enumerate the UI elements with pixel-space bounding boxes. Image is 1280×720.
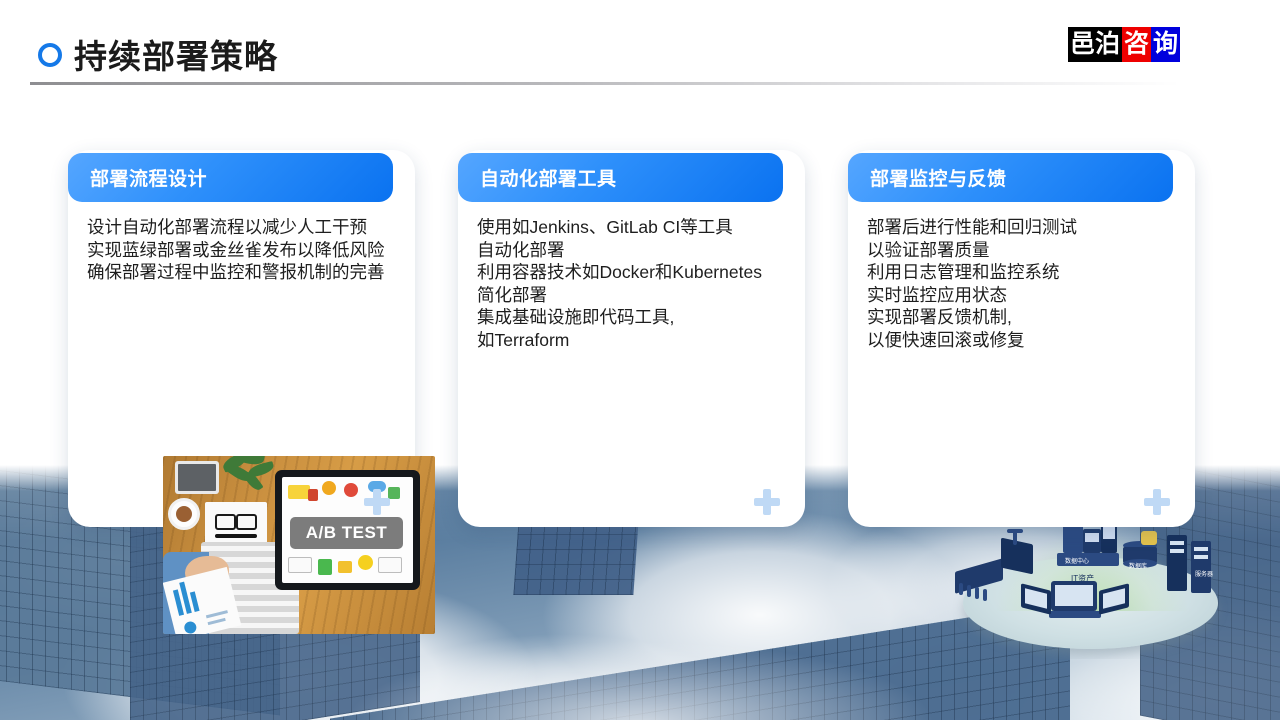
card-header: 部署流程设计	[68, 153, 393, 202]
plant-icon	[218, 456, 280, 494]
circle-ring-icon	[38, 43, 62, 67]
network-cable-4	[983, 589, 987, 601]
card-header: 部署监控与反馈	[848, 153, 1173, 202]
content-card-monitoring-feedback[interactable]: 部署监控与反馈 部署后进行性能和回归测试 以验证部署质量 利用日志管理和监控系统…	[848, 150, 1195, 527]
card-title: 部署流程设计	[90, 164, 207, 191]
card-body: 使用如Jenkins、GitLab CI等工具 自动化部署 利用容器技术如Doc…	[477, 216, 789, 351]
card-body-text: 设计自动化部署流程以减少人工干预 实现蓝绿部署或金丝雀发布以降低风险 确保部署过…	[87, 216, 399, 284]
page-title: 持续部署策略	[74, 30, 278, 78]
logo-text-dark: 邑泊	[1068, 27, 1122, 62]
plus-icon[interactable]	[754, 489, 780, 515]
server-led-4	[1194, 555, 1208, 559]
it-infrastructure-isometric-illustration: 数据中心 IT资产 数据库 服务器	[945, 513, 1235, 659]
logo-text-red: 咨	[1122, 27, 1151, 62]
antenna-pole	[1013, 531, 1017, 545]
card-body-text: 部署后进行性能和回归测试 以验证部署质量 利用日志管理和监控系统 实时监控应用状…	[867, 216, 1179, 351]
logo-text-blue: 询	[1151, 27, 1180, 62]
data-center-windows-2	[1103, 525, 1115, 539]
card-header: 自动化部署工具	[458, 153, 783, 202]
database-label: 数据库	[1129, 561, 1147, 570]
tablet-device: A/B TEST	[275, 470, 420, 590]
plus-icon[interactable]	[1144, 489, 1170, 515]
ab-test-label: A/B TEST	[290, 517, 403, 549]
content-card-automation-tools[interactable]: 自动化部署工具 使用如Jenkins、GitLab CI等工具 自动化部署 利用…	[458, 150, 805, 527]
server-label: 服务器	[1195, 569, 1213, 578]
lock-icon	[1141, 531, 1157, 545]
data-center-windows	[1085, 533, 1099, 542]
content-card-deployment-process[interactable]: 部署流程设计 设计自动化部署流程以减少人工干预 实现蓝绿部署或金丝雀发布以降低风…	[68, 150, 415, 527]
card-body: 部署后进行性能和回归测试 以验证部署质量 利用日志管理和监控系统 实时监控应用状…	[867, 216, 1179, 351]
card-title: 部署监控与反馈	[870, 164, 1007, 191]
pen-icon	[215, 534, 257, 538]
card-body: 设计自动化部署流程以减少人工干预 实现蓝绿部署或金丝雀发布以降低风险 确保部署过…	[87, 216, 399, 284]
network-cable-3	[975, 587, 979, 599]
desktop-keyboard	[1049, 611, 1101, 618]
desktop-screen	[1055, 585, 1093, 606]
card-body-text: 使用如Jenkins、GitLab CI等工具 自动化部署 利用容器技术如Doc…	[477, 216, 789, 351]
antenna-bar	[1007, 529, 1023, 533]
coffee-cup	[168, 498, 200, 530]
network-cable-1	[959, 583, 963, 595]
desk-ab-test-photo: A/B TEST	[163, 456, 435, 634]
glasses-icon	[215, 514, 257, 526]
title-divider	[30, 82, 1180, 85]
server-led-3	[1194, 547, 1208, 551]
tablet-screen: A/B TEST	[282, 477, 413, 583]
server-led-1	[1170, 541, 1184, 545]
server-led-2	[1170, 549, 1184, 553]
card-title: 自动化部署工具	[480, 164, 617, 191]
phone-on-desk	[175, 461, 219, 494]
network-cable-2	[967, 585, 971, 597]
plus-icon[interactable]	[364, 489, 390, 515]
slide-header: 持续部署策略 邑泊 咨 询	[0, 0, 1280, 95]
brand-logo: 邑泊 咨 询	[1068, 27, 1180, 62]
data-center-label: 数据中心	[1065, 556, 1089, 565]
